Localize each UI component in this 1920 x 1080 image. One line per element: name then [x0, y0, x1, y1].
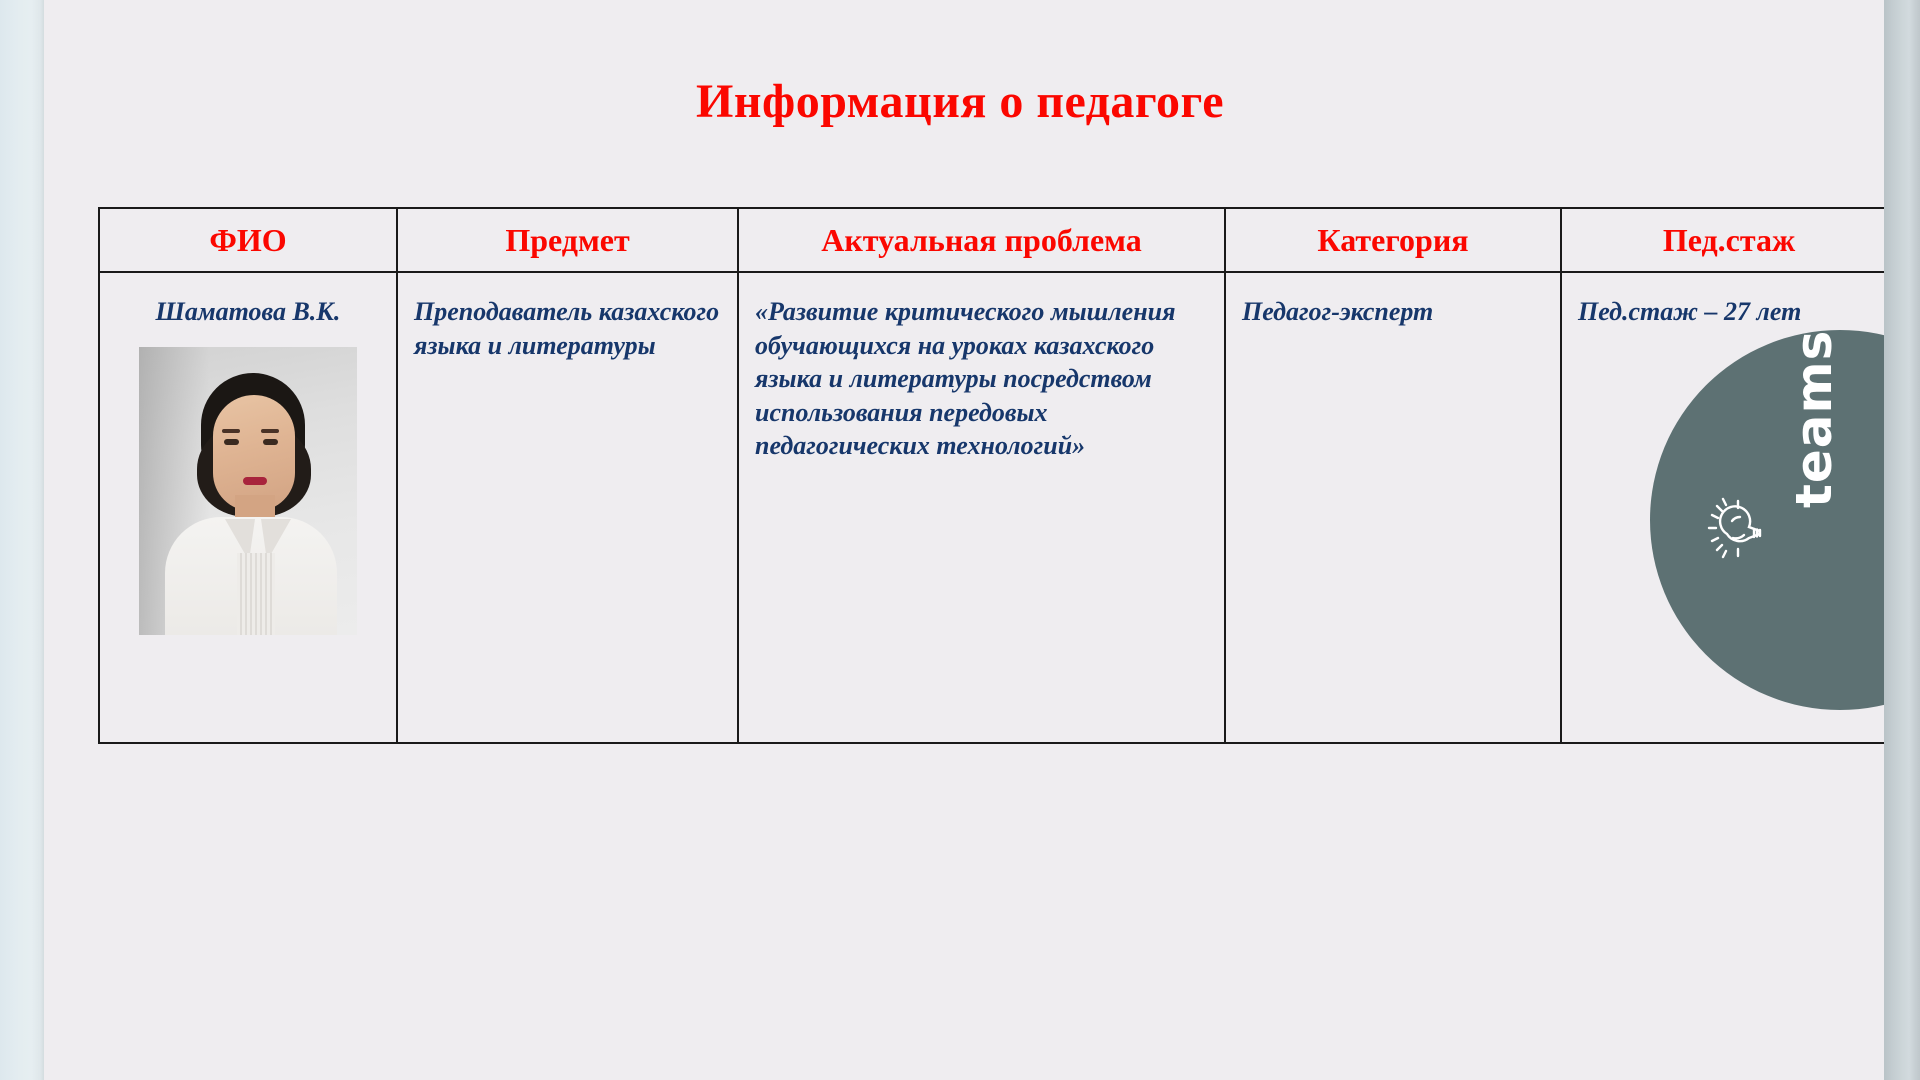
cell-teacher-identity: Шаматова В.К. [99, 272, 397, 743]
table-row: Шаматова В.К. [99, 272, 1897, 743]
column-header-problem: Актуальная проблема [738, 208, 1225, 272]
column-header-subject: Предмет [397, 208, 738, 272]
subject-text: Преподаватель казахского языка и литерат… [414, 295, 721, 362]
photo-eye-left [224, 439, 239, 445]
right-edge-decoration [1884, 0, 1920, 1080]
column-header-category: Категория [1225, 208, 1561, 272]
cell-subject: Преподаватель казахского языка и литерат… [397, 272, 738, 743]
photo-shirt-placket [237, 553, 275, 635]
slide-canvas: teams Информация о педагоге ФИО Предмет … [0, 0, 1920, 1080]
table-header-row: ФИО Предмет Актуальная проблема Категори… [99, 208, 1897, 272]
problem-text: «Развитие критического мышления обучающи… [755, 295, 1208, 463]
photo-eyebrow-left [222, 429, 240, 433]
teacher-info-table-wrapper: ФИО Предмет Актуальная проблема Категори… [98, 207, 1826, 744]
slide-title: Информация о педагоге [0, 74, 1920, 129]
teacher-portrait-photo [139, 347, 357, 635]
cell-experience: Пед.стаж – 27 лет [1561, 272, 1897, 743]
teacher-name: Шаматова В.К. [116, 295, 380, 329]
photo-face [213, 395, 295, 511]
photo-lips [243, 477, 267, 485]
column-header-experience: Пед.стаж [1561, 208, 1897, 272]
category-text: Педагог-эксперт [1242, 295, 1544, 329]
teacher-info-table: ФИО Предмет Актуальная проблема Категори… [98, 207, 1898, 744]
cell-problem: «Развитие критического мышления обучающи… [738, 272, 1225, 743]
left-edge-decoration [0, 0, 44, 1080]
column-header-fio: ФИО [99, 208, 397, 272]
photo-eyebrow-right [261, 429, 279, 433]
photo-eye-right [263, 439, 278, 445]
experience-text: Пед.стаж – 27 лет [1578, 295, 1880, 329]
cell-category: Педагог-эксперт [1225, 272, 1561, 743]
